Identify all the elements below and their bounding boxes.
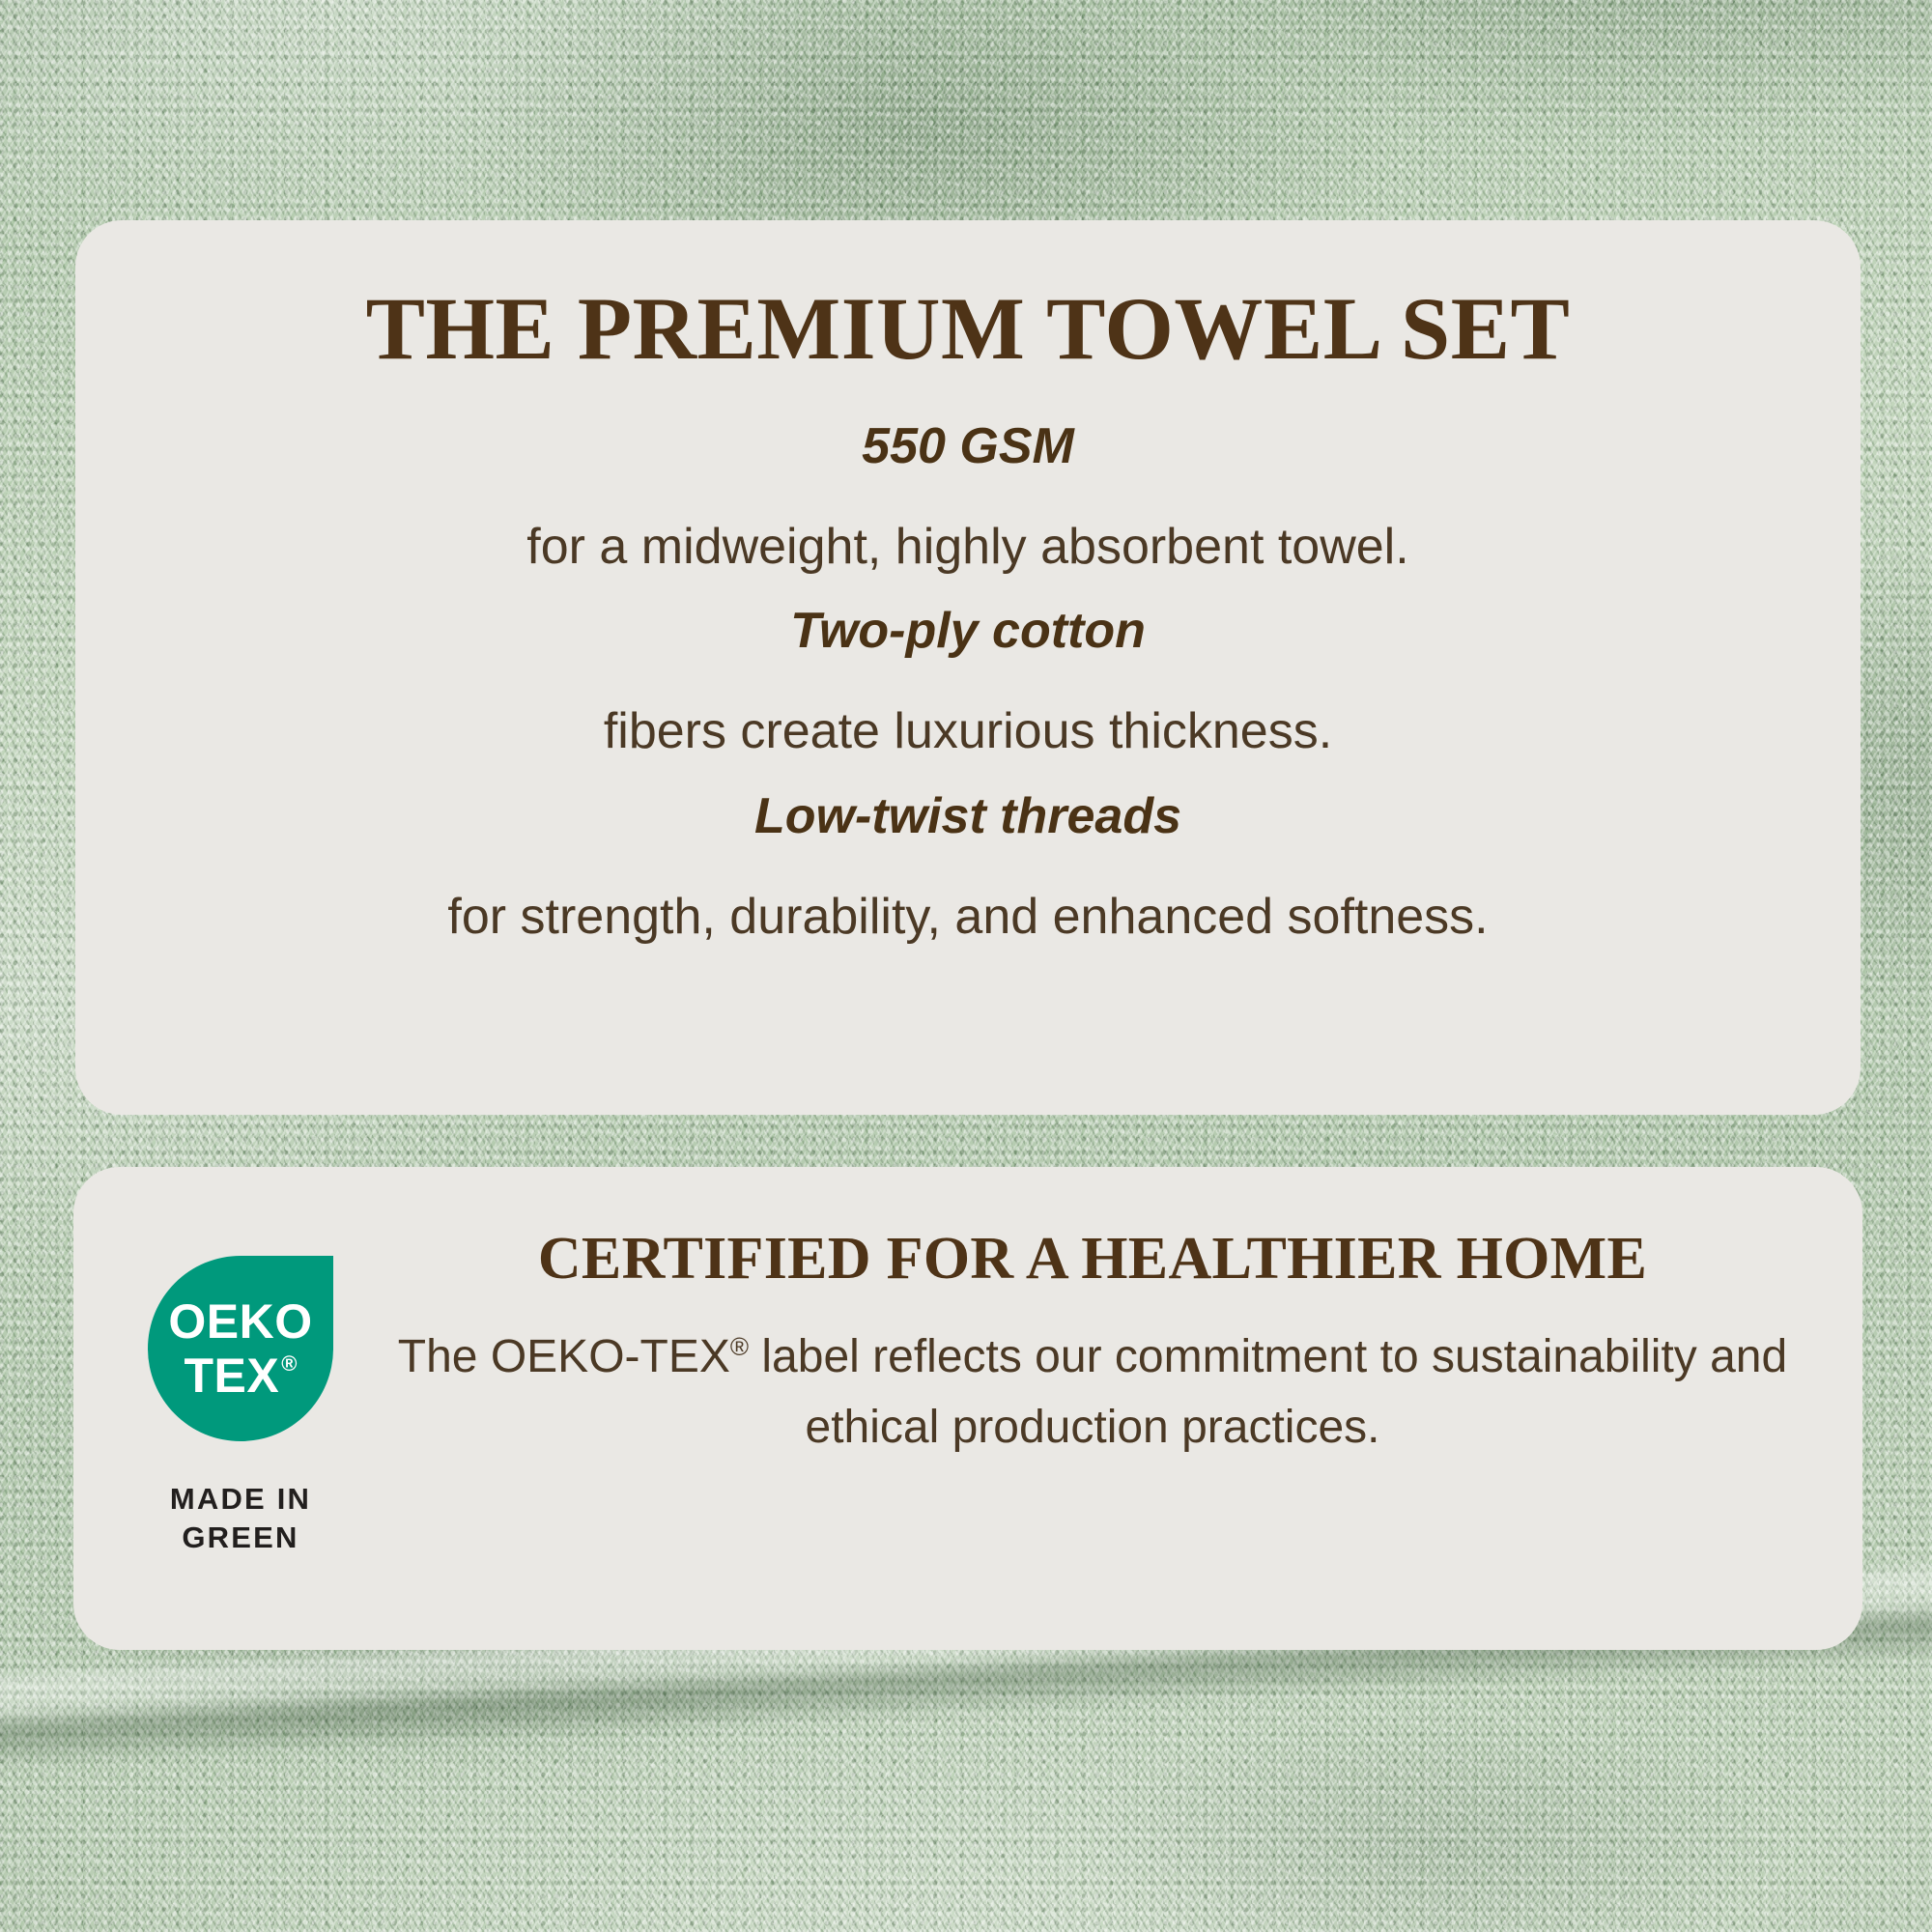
oeko-label-line2-row: TEX ® [185, 1351, 298, 1400]
spec-description: for strength, durability, and enhanced s… [131, 889, 1804, 945]
product-infographic: THE PREMIUM TOWEL SET 550 GSM for a midw… [0, 0, 1932, 1932]
certification-title: CERTIFIED FOR A HEALTHIER HOME [383, 1229, 1803, 1290]
spec-description: fibers create luxurious thickness. [131, 703, 1804, 759]
oeko-tex-droplet-icon: OEKO TEX ® [148, 1256, 333, 1441]
spec-description: for a midweight, highly absorbent towel. [131, 519, 1804, 575]
spec-item: 550 GSM for a midweight, highly absorben… [131, 419, 1804, 575]
spec-highlight: Low-twist threads [131, 789, 1804, 844]
certification-text-block: CERTIFIED FOR A HEALTHIER HOME The OEKO-… [361, 1200, 1816, 1510]
registered-trademark-icon: ® [281, 1353, 297, 1375]
made-in-green-line2: GREEN [170, 1519, 311, 1557]
spec-item: Low-twist threads for strength, durabili… [131, 789, 1804, 945]
page-title: THE PREMIUM TOWEL SET [131, 284, 1804, 375]
certification-description-after: label reflects our commitment to sustain… [749, 1331, 1787, 1453]
features-card: THE PREMIUM TOWEL SET 550 GSM for a midw… [75, 220, 1861, 1115]
spec-highlight: Two-ply cotton [131, 604, 1804, 659]
oeko-label-line2: TEX [185, 1351, 280, 1400]
certification-card: OEKO TEX ® MADE IN GREEN CERTIFIED FOR A… [73, 1167, 1862, 1650]
made-in-green-caption: MADE IN GREEN [170, 1480, 311, 1556]
oeko-tex-badge: OEKO TEX ® MADE IN GREEN [120, 1200, 361, 1556]
features-spec-list: 550 GSM for a midweight, highly absorben… [131, 419, 1804, 945]
made-in-green-line1: MADE IN [170, 1480, 311, 1519]
registered-trademark-icon: ® [730, 1332, 749, 1361]
spec-highlight: 550 GSM [131, 419, 1804, 474]
oeko-label-line1: OEKO [168, 1297, 312, 1346]
certification-description: The OEKO-TEX® label reflects our commitm… [383, 1322, 1803, 1463]
spec-item: Two-ply cotton fibers create luxurious t… [131, 604, 1804, 759]
certification-description-before: The OEKO-TEX [398, 1331, 730, 1382]
